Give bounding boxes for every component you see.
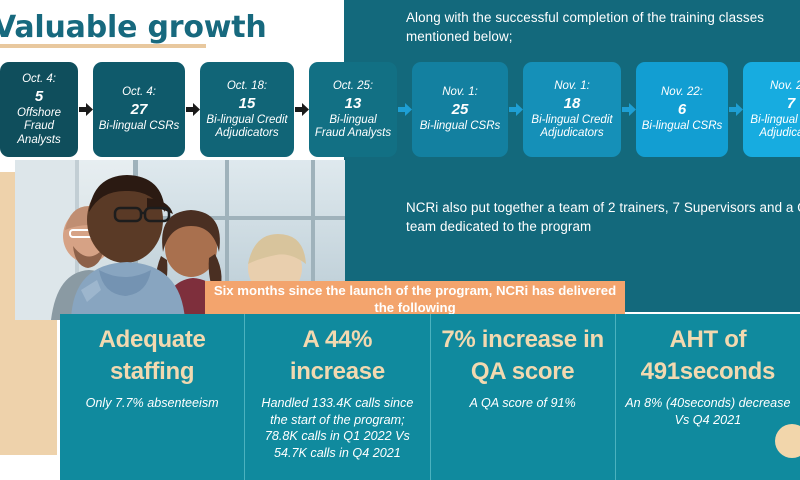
metric-card[interactable]: Adequate staffingOnly 7.7% absenteeism <box>60 314 244 480</box>
timeline-arrow-icon <box>294 103 309 117</box>
timeline-card[interactable]: Oct. 18:15Bi-lingual Credit Adjudicators <box>200 62 294 157</box>
timeline-card-role: Bi-lingual Credit Adjudicators <box>527 114 617 141</box>
timeline-card-date: Oct. 25: <box>333 79 373 93</box>
timeline-card-date: Nov. 22: <box>661 85 703 99</box>
timeline-arrow-icon <box>78 103 93 117</box>
results-banner: Six months since the launch of the progr… <box>205 281 625 317</box>
timeline-card[interactable]: Nov. 22:6Bi-lingual CSRs <box>636 62 728 157</box>
timeline-card-count: 5 <box>35 87 43 106</box>
metric-heading: AHT of 491seconds <box>624 324 792 388</box>
timeline-card-date: Oct. 4: <box>122 85 156 99</box>
timeline-card-role: Bi-lingual CSRs <box>99 120 180 134</box>
metric-detail: Only 7.7% absenteeism <box>86 395 219 412</box>
metric-detail: A QA score of 91% <box>470 395 576 412</box>
timeline-card-role: Offshore Fraud Analysts <box>4 107 74 148</box>
timeline-card-role: Bi-lingual Credit Adjudicators <box>204 114 290 141</box>
training-intro-text: Along with the successful completion of … <box>406 8 800 46</box>
timeline-card[interactable]: Oct. 4:27Bi-lingual CSRs <box>93 62 185 157</box>
timeline-card-count: 27 <box>131 100 148 119</box>
metrics-strip: Adequate staffingOnly 7.7% absenteeismA … <box>60 314 800 480</box>
title-underline-rule <box>0 44 206 48</box>
timeline-card-role: Bi-lingual Fraud Analysts <box>313 114 393 141</box>
timeline-arrow-icon <box>728 103 743 117</box>
timeline-arrow-icon <box>185 103 200 117</box>
timeline-strip: Oct. 4:5Offshore Fraud AnalystsOct. 4:27… <box>0 62 800 157</box>
timeline-card-count: 18 <box>564 94 581 113</box>
timeline-card-date: Nov. 22: <box>770 79 800 93</box>
metric-card[interactable]: A 44% increaseHandled 133.4K calls since… <box>244 314 429 480</box>
timeline-arrow-icon <box>621 103 636 117</box>
timeline-card[interactable]: Oct. 4:5Offshore Fraud Analysts <box>0 62 78 157</box>
metric-card[interactable]: 7% increase in QA scoreA QA score of 91% <box>430 314 615 480</box>
timeline-card-count: 15 <box>239 94 256 113</box>
timeline-card[interactable]: Nov. 1:25Bi-lingual CSRs <box>412 62 508 157</box>
metric-card[interactable]: AHT of 491secondsAn 8% (40seconds) decre… <box>615 314 800 480</box>
page-title: Valuable growth <box>0 10 267 45</box>
timeline-card-role: Bi-lingual CSRs <box>420 120 501 134</box>
timeline-card-date: Oct. 4: <box>22 72 56 86</box>
timeline-arrow-icon <box>397 103 412 117</box>
metric-detail: An 8% (40seconds) decrease Vs Q4 2021 <box>624 395 792 428</box>
timeline-arrow-icon <box>508 103 523 117</box>
slide-canvas: Along with the successful completion of … <box>0 0 800 480</box>
timeline-card[interactable]: Nov. 1:18Bi-lingual Credit Adjudicators <box>523 62 621 157</box>
timeline-card-date: Nov. 1: <box>442 85 478 99</box>
metric-heading: A 44% increase <box>253 324 421 388</box>
timeline-card[interactable]: Oct. 25:13Bi-lingual Fraud Analysts <box>309 62 397 157</box>
timeline-card-count: 25 <box>452 100 469 119</box>
timeline-card-count: 13 <box>345 94 362 113</box>
timeline-card-date: Nov. 1: <box>554 79 590 93</box>
timeline-card-count: 7 <box>787 94 795 113</box>
team-composition-text: NCRi also put together a team of 2 train… <box>406 198 800 236</box>
metric-detail: Handled 133.4K calls since the start of … <box>253 395 421 461</box>
timeline-card-date: Oct. 18: <box>227 79 267 93</box>
metric-heading: 7% increase in QA score <box>439 324 607 388</box>
timeline-card-count: 6 <box>678 100 686 119</box>
metric-heading: Adequate staffing <box>68 324 236 388</box>
timeline-card-role: Bi-lingual CSRs <box>642 120 723 134</box>
timeline-card-role: Bi-lingual Credit Adjudicators <box>747 114 800 141</box>
timeline-card[interactable]: Nov. 22:7Bi-lingual Credit Adjudicators <box>743 62 800 157</box>
